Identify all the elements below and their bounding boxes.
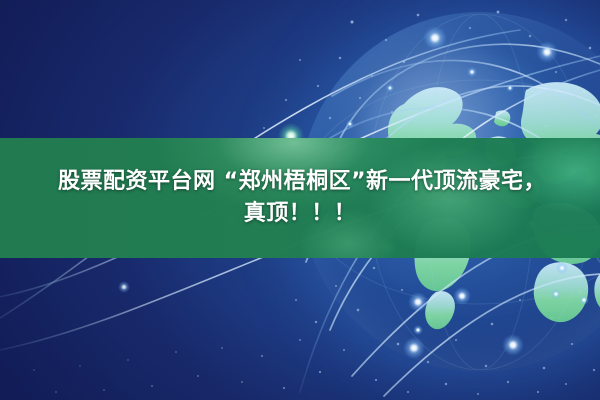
headline-line-2: 真顶！！！ — [244, 201, 357, 227]
banner-headline: 股票配资平台网 “郑州梧桐区”新一代顶流豪宅， 真顶！！！ — [0, 138, 600, 258]
banner-image: 股票配资平台网 “郑州梧桐区”新一代顶流豪宅， 真顶！！！ — [0, 0, 600, 400]
headline-line-1: 股票配资平台网 “郑州梧桐区”新一代顶流豪宅， — [54, 169, 546, 195]
